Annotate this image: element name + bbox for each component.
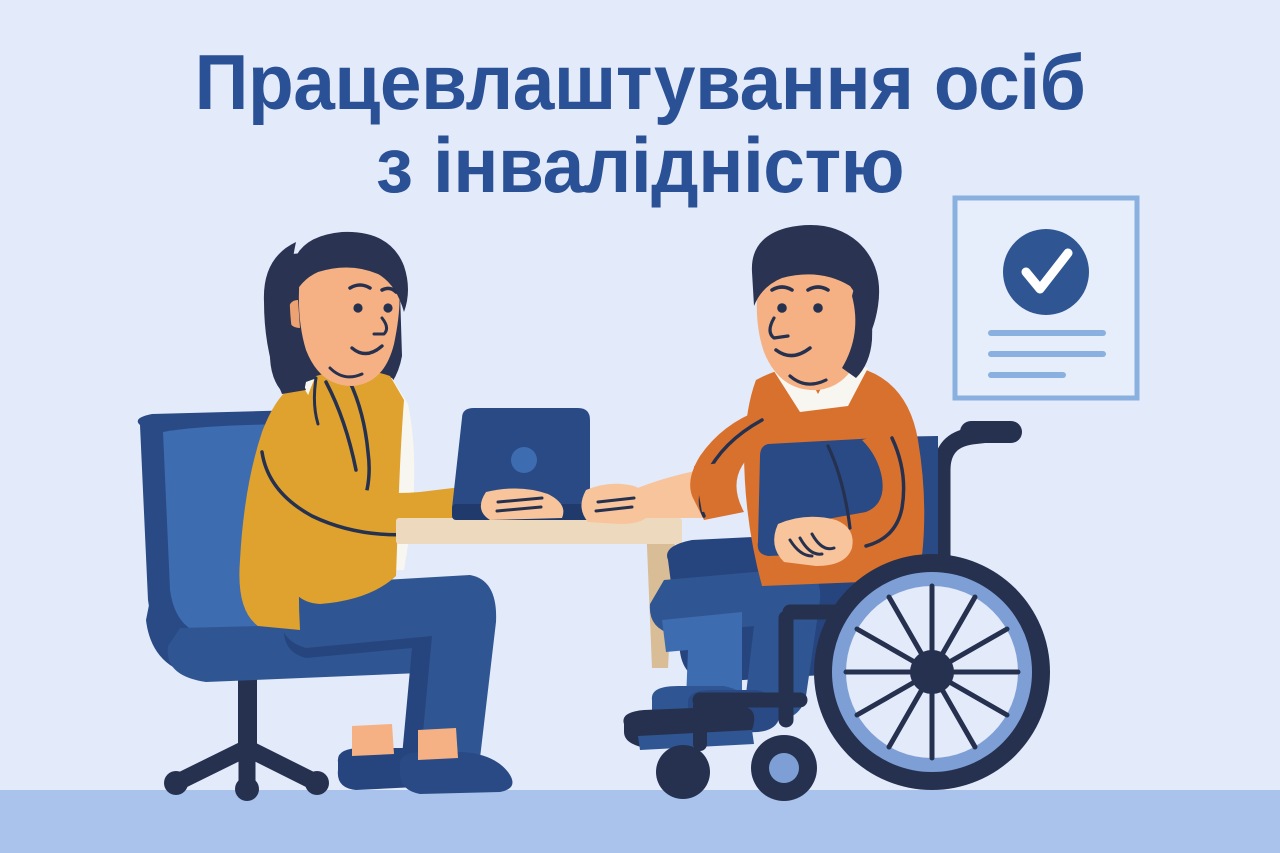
wheelchair-grip — [960, 421, 1022, 443]
man-hand-on-folder — [774, 517, 853, 566]
woman-ankle — [352, 724, 394, 756]
wheelchair-wheel-hub — [910, 650, 954, 694]
chair-caster — [235, 777, 259, 801]
chair-caster — [164, 771, 188, 795]
laptop-logo-icon — [511, 447, 537, 473]
certificate-document-icon — [955, 198, 1137, 398]
woman-eye — [353, 303, 362, 312]
man-hand — [581, 484, 650, 524]
wheelchair-small-wheel — [656, 745, 710, 799]
check-badge-circle — [1003, 229, 1089, 315]
man-eye — [777, 303, 787, 313]
chair-caster — [305, 771, 329, 795]
desk-top — [396, 518, 682, 544]
man-eye — [813, 303, 823, 313]
certificate-text-line — [988, 330, 1106, 336]
certificate-text-line — [988, 372, 1066, 378]
woman-ankle — [418, 728, 458, 760]
wheelchair-caster-hub — [769, 753, 799, 783]
certificate-text-line — [988, 351, 1106, 357]
woman-eye — [383, 303, 392, 312]
poster: Працевлаштування осіб з інвалідністю — [0, 0, 1280, 853]
floor — [0, 790, 1280, 853]
wheelchair-rear-wheel — [814, 554, 1050, 790]
illustration-scene — [0, 0, 1280, 853]
